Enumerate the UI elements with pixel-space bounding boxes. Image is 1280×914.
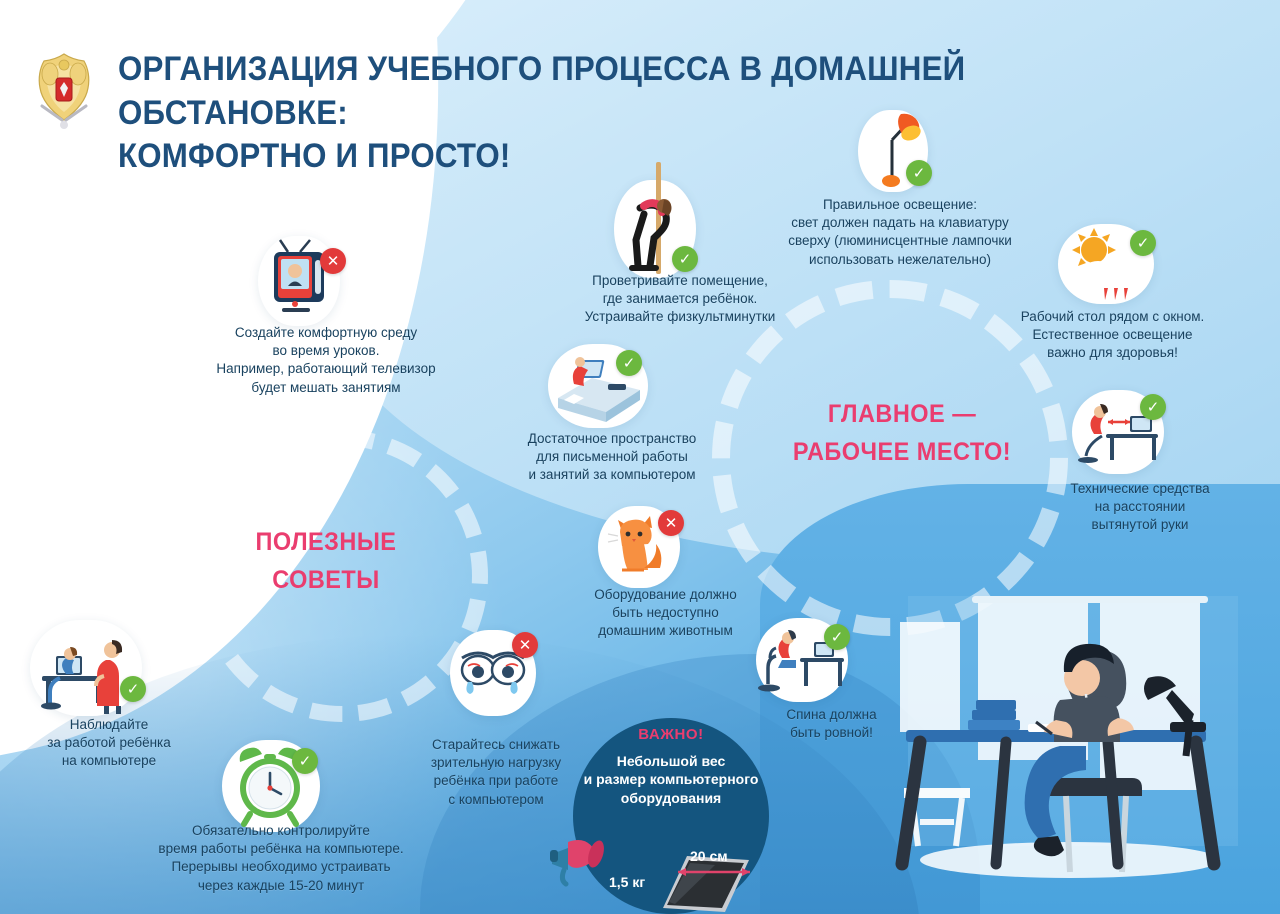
badge-ok-lighting: ✓ — [906, 160, 932, 186]
bubble-eyestrain: ✕ — [450, 630, 536, 716]
megaphone-icon — [548, 832, 614, 888]
badge-no-pets: ✕ — [658, 510, 684, 536]
tip-text-ventilation: Проветривайте помещение, где занимается … — [540, 272, 820, 327]
badge-ok-space: ✓ — [616, 350, 642, 376]
badge-ok-supervise: ✓ — [120, 676, 146, 702]
infographic-poster: ОРГАНИЗАЦИЯ УЧЕБНОГО ПРОЦЕССА В ДОМАШНЕЙ… — [0, 0, 1280, 914]
bubble-pets: ✕ — [598, 506, 680, 588]
tip-text-window: Рабочий стол рядом с окном. Естественное… — [985, 308, 1240, 363]
parent-supervising-icon — [30, 620, 142, 716]
bubble-ventilation: ✓ — [614, 180, 696, 278]
badge-no-eyestrain: ✕ — [512, 632, 538, 658]
badge-ok-ventilation: ✓ — [672, 246, 698, 272]
bubble-tv: ✕ — [258, 236, 340, 326]
badge-ok-distance: ✓ — [1140, 394, 1166, 420]
poster-header: ОРГАНИЗАЦИЯ УЧЕБНОГО ПРОЦЕССА В ДОМАШНЕЙ… — [0, 0, 1280, 170]
bubble-posture: ✓ — [756, 618, 848, 702]
bubble-space: ✓ — [548, 344, 648, 428]
bubble-supervise: ✓ — [30, 620, 142, 716]
russian-federation-coat-of-arms-icon — [28, 48, 100, 134]
tip-text-tv: Создайте комфортную среду во время уроко… — [180, 324, 472, 397]
tip-text-lighting: Правильное освещение: свет должен падать… — [750, 196, 1050, 269]
tablet-width-value: 20 см — [690, 848, 728, 864]
bubble-time: ✓ — [222, 740, 320, 832]
bubble-window: ✓ — [1058, 224, 1154, 304]
tip-text-supervise: Наблюдайте за работой ребёнка на компьют… — [18, 716, 200, 771]
page-title: ОРГАНИЗАЦИЯ УЧЕБНОГО ПРОЦЕССА В ДОМАШНЕЙ… — [118, 48, 1121, 179]
tablet-weight-value: 1,5 кг — [609, 874, 645, 890]
section-heading-tips: ПОЛЕЗНЫЕ СОВЕТЫ — [232, 524, 420, 599]
badge-ok-window: ✓ — [1130, 230, 1156, 256]
badge-ok-posture: ✓ — [824, 624, 850, 650]
section-heading-workplace: ГЛАВНОЕ — РАБОЧЕЕ МЕСТО! — [780, 396, 1024, 471]
badge-no-tv: ✕ — [320, 248, 346, 274]
tip-text-time: Обязательно контролируйте время работы р… — [136, 822, 426, 895]
bubble-lighting: ✓ — [858, 110, 928, 192]
important-text: Небольшой вес и размер компьютерного обо… — [560, 752, 782, 807]
width-arrow-icon — [672, 866, 756, 878]
tip-text-distance: Технические средства на расстоянии вытян… — [1040, 480, 1240, 535]
tip-text-pets: Оборудование должно быть недоступно дома… — [558, 586, 773, 641]
important-label: ВАЖНО! — [573, 726, 769, 743]
bubble-distance: ✓ — [1072, 390, 1164, 474]
boy-studying-at-desk-illustration — [860, 560, 1280, 914]
badge-ok-time: ✓ — [292, 748, 318, 774]
tip-text-space: Достаточное пространство для письменной … — [492, 430, 732, 485]
